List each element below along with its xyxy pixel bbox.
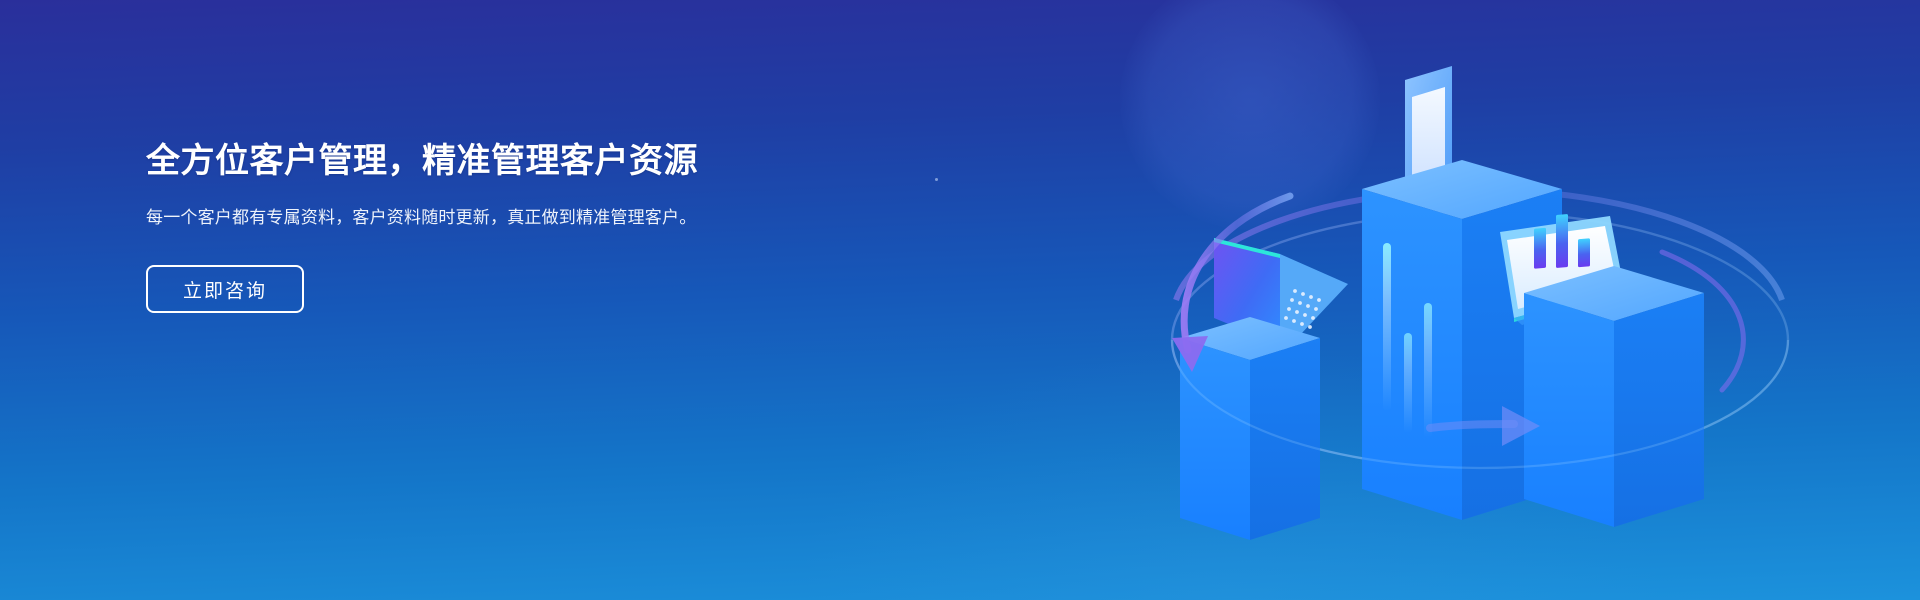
right-arc-arrow (1430, 406, 1540, 446)
monitor-bezel (1500, 216, 1624, 318)
orbit-arc-right-tail (1662, 252, 1743, 390)
page-title: 全方位客户管理，精准管理客户资源 (146, 140, 786, 184)
right-pillar-top (1524, 266, 1704, 321)
monitor-screen (1507, 226, 1617, 309)
hero-illustration (1162, 0, 1802, 600)
laptop-screen-edge (1214, 238, 1280, 258)
hero-banner: 全方位客户管理，精准管理客户资源 每一个客户都有专属资料，客户资料随时更新，真正… (0, 0, 1920, 600)
isometric-illustration-svg (1162, 0, 1802, 600)
monitor-device (1500, 214, 1632, 325)
right-arrow-head (1502, 406, 1540, 446)
right-pillar-side (1614, 293, 1704, 527)
center-pillar-front (1362, 189, 1462, 520)
cta-container: 立即咨询 (146, 265, 786, 313)
center-pillar-top (1362, 160, 1562, 219)
left-arrow-head (1172, 336, 1208, 372)
background-glow-ellipse (780, 330, 1680, 600)
tablet-frame (1405, 66, 1452, 202)
consult-now-button[interactable]: 立即咨询 (146, 265, 304, 313)
left-pillar-front (1180, 338, 1250, 540)
laptop-keyboard (1280, 254, 1348, 352)
laptop-keyboard-keys (1284, 289, 1321, 329)
orbit-ellipse-back (1172, 212, 1788, 468)
left-pillar-side (1250, 338, 1320, 540)
background-glow-circle (1120, 0, 1380, 230)
tablet-shadow (1405, 187, 1462, 208)
tablet-screen (1412, 87, 1445, 186)
right-pillar-front (1524, 293, 1614, 527)
hero-subtitle: 每一个客户都有专属资料，客户资料随时更新，真正做到精准管理客户。 (146, 204, 726, 232)
laptop-screen (1214, 238, 1280, 345)
orbit-arc-back (1176, 190, 1782, 300)
zigzag-connector-line (1445, 170, 1580, 258)
monitor-stand-shadow (1514, 288, 1632, 325)
tablet-device (1405, 66, 1462, 208)
orbit-ellipse-front (1172, 340, 1788, 468)
monitor-edge-glow (1514, 288, 1624, 322)
center-pillar (1362, 66, 1562, 520)
laptop-device (1214, 238, 1348, 352)
tablet-home-button (1423, 188, 1433, 196)
left-arc-arrow (1172, 196, 1290, 372)
monitor-bar-chart (1534, 214, 1590, 269)
left-pillar (1180, 238, 1348, 540)
pillar-data-streaks (1383, 243, 1432, 438)
left-pillar-top (1180, 317, 1320, 360)
hero-copy-block: 全方位客户管理，精准管理客户资源 每一个客户都有专属资料，客户资料随时更新，真正… (146, 140, 786, 313)
center-pillar-side (1462, 189, 1562, 520)
background-sparkle-dot (935, 178, 938, 181)
right-pillar (1500, 214, 1704, 527)
